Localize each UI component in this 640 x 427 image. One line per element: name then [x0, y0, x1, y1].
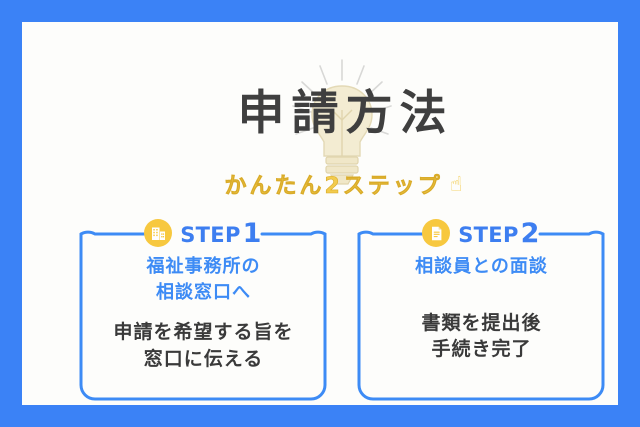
step-1-body: 福祉事務所の 相談窓口へ 申請を希望する旨を 窓口に伝える [88, 254, 318, 372]
poster-root: 申請方法 かんたん2ステップ ☝ [0, 0, 640, 427]
step-1-word: STEP [180, 223, 240, 247]
step-2-text-line-2: 手続き完了 [366, 336, 596, 363]
step-2-number: 2 [521, 220, 540, 247]
page-title: 申請方法 [22, 88, 640, 140]
pointing-finger-icon: ☝ [450, 174, 463, 195]
step-1-text-line-2: 窓口に伝える [88, 346, 318, 373]
step-2-body: 相談員との面談 書類を提出後 手続き完了 [366, 254, 596, 363]
step-1-text-line-1: 申請を希望する旨を [88, 319, 318, 346]
document-icon [422, 219, 450, 247]
subtitle-row: かんたん2ステップ ☝ [22, 168, 640, 200]
step-2-badge-row: STEP 2 [356, 218, 606, 248]
step-2-text: 書類を提出後 手続き完了 [366, 310, 596, 363]
step-1-heading-line-1: 福祉事務所の [88, 254, 318, 280]
step-1-heading-line-2: 相談窓口へ [88, 280, 318, 306]
step-card-2: STEP 2 相談員との面談 書類を提出後 手続き完了 [356, 220, 606, 402]
step-2-heading: 相談員との面談 [366, 254, 596, 280]
step-2-heading-line-1: 相談員との面談 [366, 254, 596, 280]
step-card-1: STEP 1 福祉事務所の 相談窓口へ 申請を希望する旨を 窓口に伝える [78, 220, 328, 402]
step-1-label: STEP 1 [180, 220, 261, 247]
step-1-heading: 福祉事務所の 相談窓口へ [88, 254, 318, 305]
step-1-badge-row: STEP 1 [78, 218, 328, 248]
building-icon [144, 219, 172, 247]
inner-panel: 申請方法 かんたん2ステップ ☝ [22, 22, 618, 405]
steps-container: STEP 1 福祉事務所の 相談窓口へ 申請を希望する旨を 窓口に伝える [22, 220, 640, 402]
step-2-word: STEP [458, 223, 518, 247]
step-2-label: STEP 2 [458, 220, 539, 247]
subtitle-text: かんたん2ステップ [221, 168, 442, 200]
step-1-text: 申請を希望する旨を 窓口に伝える [88, 319, 318, 372]
step-1-number: 1 [243, 220, 262, 247]
step-2-text-line-1: 書類を提出後 [366, 310, 596, 337]
